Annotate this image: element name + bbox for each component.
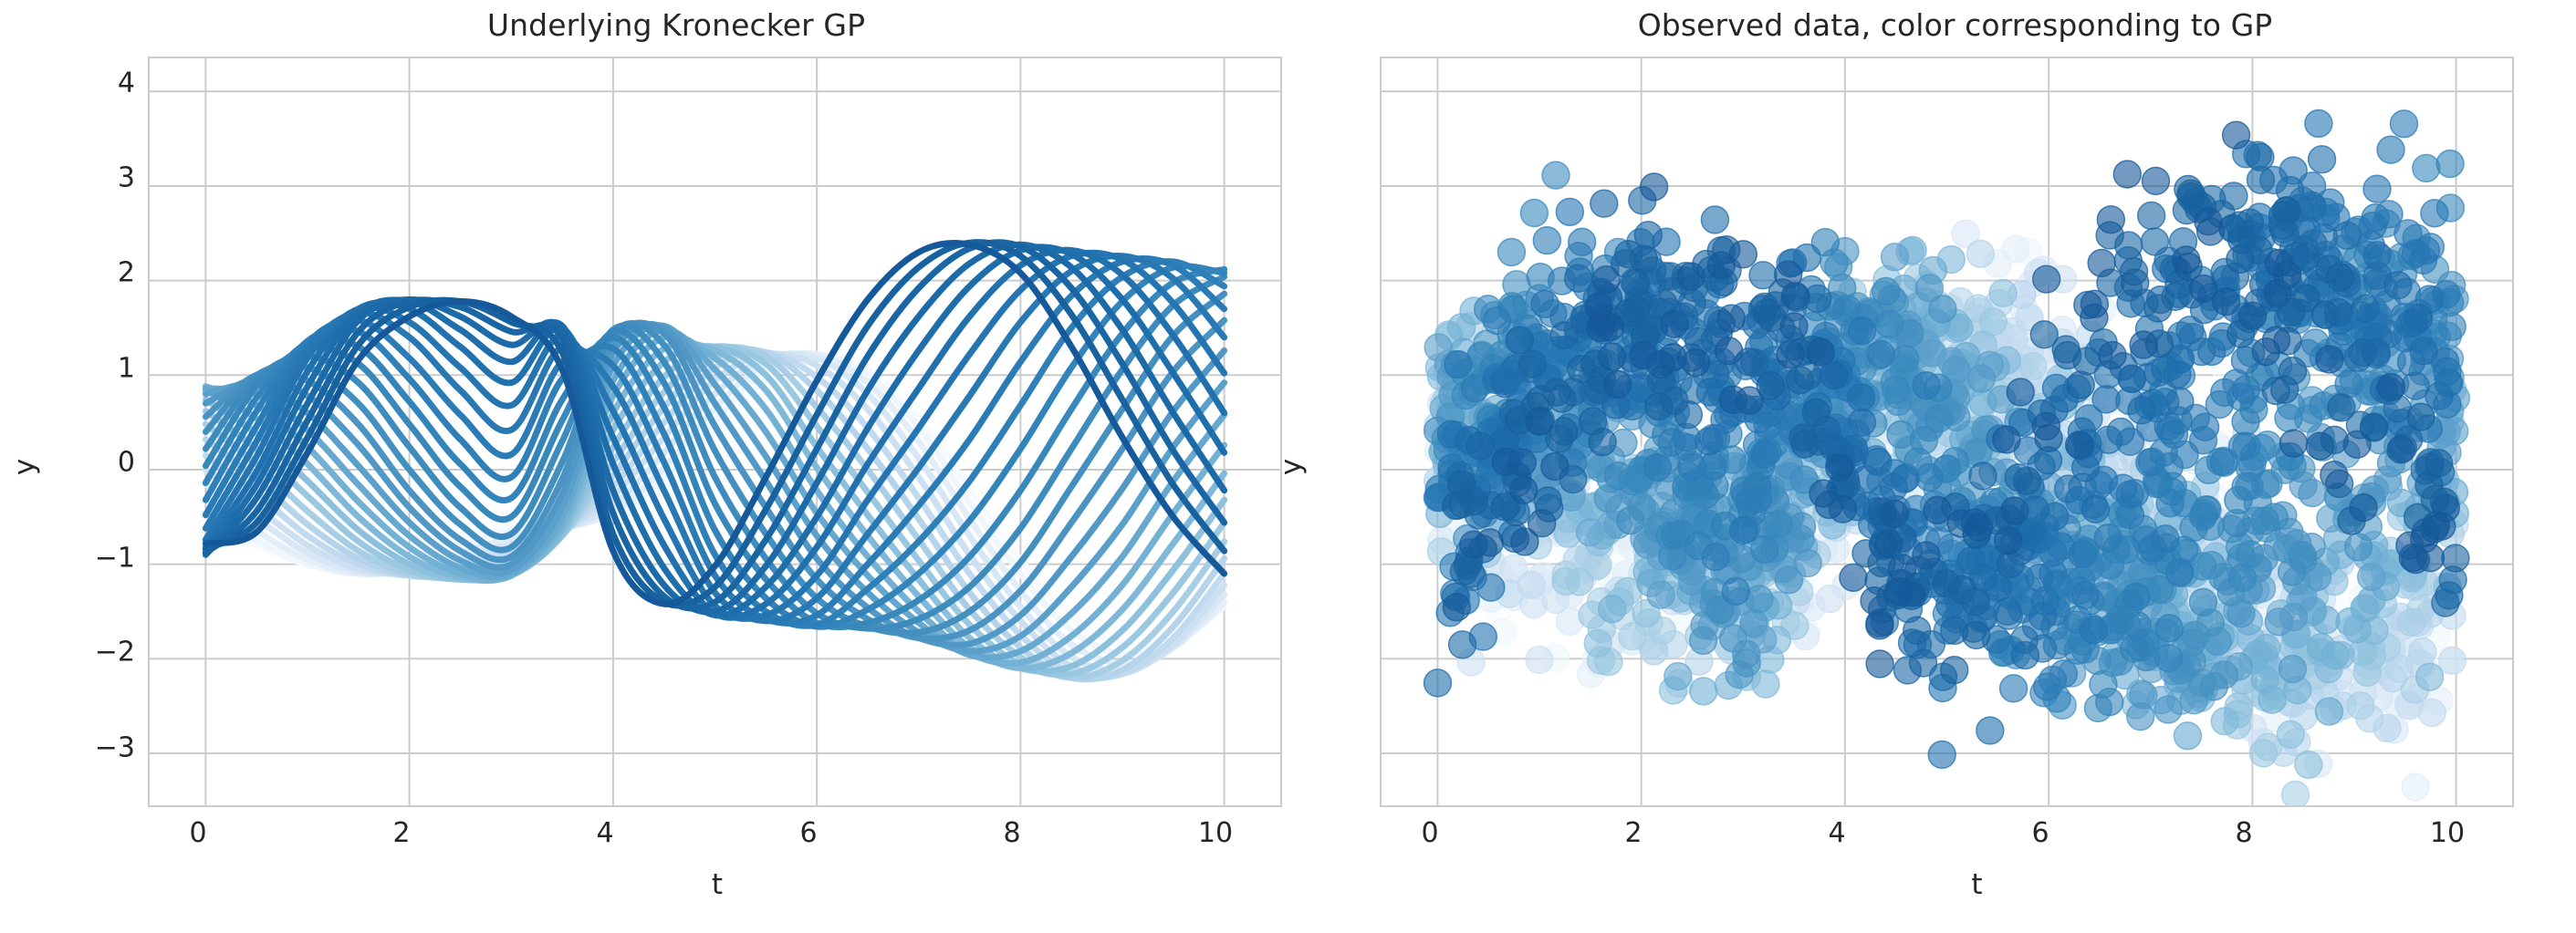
scatter-point: [2439, 647, 2466, 674]
scatter-point: [2049, 660, 2077, 688]
scatter-point: [2264, 280, 2291, 307]
scatter-point: [1622, 269, 1650, 296]
scatter-point: [1866, 650, 1893, 678]
scatter-point: [1717, 305, 1745, 332]
scatter-point: [2154, 412, 2182, 440]
scatter-point: [1517, 572, 1545, 599]
scatter-point: [2237, 541, 2264, 568]
scatter-point: [2352, 295, 2379, 322]
scatter-point: [1989, 280, 2017, 307]
gp-curve-group: [205, 243, 1224, 679]
scatter-point: [1690, 678, 1717, 705]
scatter-point: [2277, 720, 2304, 748]
scatter-point: [1993, 426, 2020, 453]
scatter-point: [1765, 511, 1792, 538]
scatter-point: [1695, 428, 1723, 455]
x-tick-label: 2: [392, 817, 410, 849]
scatter-point: [1928, 741, 1955, 769]
gp-curves-canvas: [150, 58, 1280, 805]
x-tick-label: 4: [596, 817, 613, 849]
scatter-point: [1966, 240, 1994, 267]
x-tick-label: 4: [1828, 817, 1845, 849]
scatter-point: [1448, 314, 1476, 341]
scatter-point: [2363, 242, 2391, 269]
y-tick-label: 1: [118, 352, 135, 384]
scatter-point: [2156, 490, 2184, 517]
scatter-point: [2152, 525, 2179, 553]
scatter-point: [1867, 341, 1894, 368]
scatter-point: [2275, 404, 2302, 431]
scatter-point: [1787, 367, 1814, 394]
x-tick-label: 8: [1003, 817, 1020, 849]
scatter-point: [2130, 331, 2157, 358]
scatter-point: [1443, 594, 1470, 621]
scatter-point: [2189, 588, 2216, 616]
scatter-point: [2134, 364, 2162, 391]
scatter-point: [1661, 310, 1688, 337]
scatter-point: [1630, 245, 1657, 273]
scatter-point: [2436, 150, 2464, 178]
scatter-point: [1849, 409, 1876, 436]
scatter-point: [2081, 290, 2108, 317]
scatter-point: [2189, 503, 2216, 530]
scatter-point: [1789, 424, 1817, 451]
scatter-point: [2416, 663, 2444, 690]
scatter-point: [2306, 432, 2333, 460]
scatter-point: [1424, 669, 1452, 697]
scatter-point: [2279, 558, 2306, 586]
scatter-canvas: [1382, 58, 2512, 805]
scatter-point: [2128, 397, 2155, 424]
scatter-point: [1569, 228, 1596, 255]
scatter-point: [2343, 430, 2371, 458]
scatter-point: [2279, 358, 2307, 385]
scatter-point: [2295, 751, 2322, 778]
scatter-point: [2088, 249, 2115, 276]
scatter-point: [1915, 463, 1943, 491]
scatter-point: [1550, 418, 1578, 445]
scatter-point: [2326, 264, 2353, 291]
scatter-point: [1913, 372, 1940, 399]
scatter-point: [2155, 645, 2183, 672]
scatter-point: [1592, 266, 1620, 294]
panel-underlying-gp: Underlying Kronecker GP 4 3 2 1 0 −1 −2 …: [0, 0, 1288, 933]
scatter-point: [2165, 559, 2193, 586]
scatter-point: [2127, 703, 2154, 731]
scatter-point: [1510, 476, 1538, 503]
scatter-point: [2260, 503, 2288, 531]
scatter-point: [2198, 338, 2226, 366]
scatter-point: [2001, 497, 2028, 524]
scatter-point: [1730, 517, 1757, 544]
scatter-point: [1599, 343, 1626, 370]
x-tick-label: 6: [2031, 817, 2049, 849]
scatter-point: [1699, 453, 1726, 481]
scatter-point: [2247, 166, 2275, 193]
scatter-point: [1604, 462, 1632, 490]
scatter-point: [1566, 568, 1593, 596]
scatter-point: [1511, 528, 1538, 555]
scatter-point: [2211, 708, 2238, 735]
scatter-point: [2097, 206, 2124, 233]
scatter-point: [2155, 615, 2183, 642]
scatter-point: [1807, 338, 1834, 366]
scatter-point: [2312, 606, 2340, 634]
x-tick-label: 2: [1624, 817, 1642, 849]
scatter-point: [2377, 136, 2404, 163]
scatter-point: [1533, 227, 1560, 254]
scatter-point: [1702, 544, 1729, 571]
scatter-point: [2273, 197, 2300, 224]
scatter-point: [1506, 327, 1533, 354]
y-axis-label-left: y: [8, 458, 41, 474]
scatter-point: [2066, 431, 2093, 459]
scatter-point: [2328, 394, 2355, 421]
scatter-point: [2333, 222, 2361, 249]
scatter-point: [2363, 175, 2391, 202]
scatter-point: [2421, 200, 2448, 227]
scatter-point: [2391, 110, 2418, 138]
y-tick-label: 0: [118, 447, 135, 479]
scatter-point: [2399, 544, 2426, 572]
scatter-point: [1584, 629, 1611, 657]
scatter-point: [1630, 342, 1657, 369]
y-tick-label: −1: [95, 542, 135, 574]
scatter-point: [2096, 689, 2123, 716]
scatter-point: [1913, 542, 1940, 569]
scatter-point: [1497, 239, 1525, 266]
scatter-point: [1476, 529, 1504, 556]
scatter-point: [2253, 635, 2280, 662]
scatter-point: [2347, 692, 2374, 720]
scatter-point: [2405, 305, 2433, 332]
scatter-point: [1924, 496, 1951, 524]
scatter-point: [1589, 429, 1616, 456]
scatter-point: [2000, 675, 2028, 702]
scatter-point: [2122, 584, 2150, 611]
scatter-point: [2144, 295, 2172, 322]
scatter-point: [2305, 110, 2332, 138]
scatter-point: [2425, 382, 2453, 409]
scatter-point: [1809, 480, 1837, 507]
scatter-point: [2418, 699, 2446, 726]
scatter-point: [2228, 226, 2256, 254]
scatter-point: [2225, 487, 2252, 514]
scatter-point: [1750, 441, 1778, 468]
scatter-point: [1716, 337, 1743, 365]
scatter-point: [2442, 544, 2469, 572]
scatter-point: [2410, 337, 2437, 365]
scatter-point: [1963, 621, 1990, 648]
panel-observed-data: Observed data, color corresponding to GP…: [1288, 0, 2576, 933]
scatter-point: [2258, 686, 2286, 713]
scatter-point: [1645, 393, 1673, 420]
scatter-point: [1550, 322, 1578, 349]
scatter-point: [1887, 421, 1914, 449]
plot-area-right: [1380, 57, 2514, 807]
scatter-point: [2320, 461, 2348, 489]
x-tick-label: 10: [1198, 817, 1233, 849]
scatter-point: [1730, 477, 1757, 504]
scatter-point: [1617, 507, 1644, 534]
scatter-point: [2223, 121, 2250, 149]
scatter-point: [1882, 376, 1910, 403]
scatter-point: [1641, 173, 1668, 201]
scatter-point: [1542, 161, 1570, 189]
y-tick-label: 3: [118, 162, 135, 194]
scatter-point: [1683, 349, 1710, 377]
scatter-point: [2282, 782, 2310, 805]
scatter-point: [2409, 638, 2436, 666]
scatter-point: [2358, 564, 2385, 591]
scatter-point: [1752, 670, 1779, 698]
scatter-point: [2413, 154, 2440, 181]
scatter-point: [2113, 161, 2141, 188]
scatter-point: [2011, 642, 2039, 669]
scatter-point: [2403, 240, 2430, 267]
scatter-point: [1585, 293, 1612, 320]
scatter-point: [2030, 321, 2058, 348]
scatter-point-group: [1424, 110, 2469, 805]
scatter-point: [2344, 534, 2372, 561]
scatter-point: [1647, 581, 1674, 608]
scatter-point: [2415, 472, 2443, 499]
scatter-point: [1775, 566, 1802, 594]
scatter-point: [1780, 313, 1808, 340]
x-tick-label: 0: [189, 817, 206, 849]
scatter-point: [1976, 717, 2004, 744]
x-axis-label-right: t: [1288, 868, 2576, 901]
scatter-point: [1816, 586, 1843, 613]
scatter-point: [2164, 361, 2191, 389]
scatter-point: [2019, 353, 2047, 380]
scatter-point: [1777, 341, 1804, 368]
scatter-point: [1519, 350, 1547, 378]
plot-area-left: [148, 57, 1282, 807]
scatter-point: [2398, 609, 2425, 637]
scatter-point: [1720, 625, 1747, 652]
x-tick-label: 6: [799, 817, 817, 849]
scatter-point: [2195, 208, 2222, 235]
scatter-point: [2265, 249, 2292, 276]
scatter-point: [2349, 339, 2376, 367]
scatter-point: [1864, 449, 1892, 476]
scatter-point: [2081, 617, 2108, 644]
scatter-point: [1892, 346, 1919, 373]
scatter-point: [1664, 663, 1692, 690]
scatter-point: [2013, 467, 2040, 494]
scatter-point: [2321, 642, 2349, 669]
scatter-point: [2252, 338, 2279, 366]
scatter-point: [2279, 656, 2306, 683]
scatter-point: [2071, 582, 2099, 609]
scatter-point: [2402, 773, 2429, 801]
scatter-point: [1733, 649, 1760, 677]
scatter-point: [2166, 388, 2194, 415]
scatter-point: [2438, 313, 2466, 340]
y-axis-label-right: y: [1275, 458, 1308, 474]
scatter-point: [2094, 524, 2122, 552]
scatter-point: [2106, 606, 2133, 633]
scatter-point: [2154, 696, 2182, 723]
scatter-point: [1449, 631, 1476, 658]
scatter-point: [2031, 587, 2059, 615]
x-tick-label: 10: [2430, 817, 2465, 849]
scatter-point: [2280, 604, 2308, 631]
scatter-point: [2407, 403, 2435, 430]
scatter-point: [1781, 283, 1809, 310]
scatter-point: [2007, 378, 2034, 406]
scatter-point: [1526, 647, 1553, 674]
scatter-point: [2309, 146, 2336, 173]
scatter-point: [2280, 430, 2308, 457]
scatter-point: [2435, 582, 2463, 609]
scatter-point: [2033, 265, 2060, 293]
y-tick-label: −3: [95, 731, 135, 763]
y-tick-label: −2: [95, 637, 135, 669]
scatter-point: [1875, 530, 1903, 557]
scatter-point: [1556, 198, 1583, 225]
scatter-point: [1541, 453, 1569, 481]
scatter-point: [2190, 275, 2217, 303]
scatter-point: [2067, 371, 2094, 399]
x-axis-label-left: t: [0, 868, 1288, 901]
scatter-point: [1690, 627, 1717, 654]
scatter-point: [2387, 436, 2414, 463]
scatter-point: [2136, 449, 2164, 476]
scatter-point: [1995, 527, 2022, 555]
scatter-point: [1941, 657, 1968, 684]
scatter-point: [1826, 454, 1853, 482]
scatter-point: [1599, 596, 1626, 623]
scatter-point: [1967, 365, 1995, 392]
scatter-point: [1969, 462, 1997, 490]
y-tick-column-left: 4 3 2 1 0 −1 −2 −3: [0, 57, 135, 807]
scatter-point: [1604, 371, 1632, 399]
scatter-point: [1948, 576, 1976, 604]
scatter-point: [1590, 190, 1618, 217]
scatter-point: [1492, 448, 1519, 475]
scatter-point: [2116, 481, 2143, 508]
scatter-point: [2350, 494, 2377, 522]
scatter-point: [1889, 555, 1916, 582]
x-tick-label: 8: [2235, 817, 2252, 849]
scatter-point: [1861, 587, 1888, 615]
scatter-point: [2174, 722, 2201, 750]
scatter-point: [2081, 495, 2109, 523]
scatter-point: [1929, 295, 1956, 323]
scatter-point: [2359, 213, 2386, 240]
scatter-point: [2121, 635, 2148, 662]
scatter-point: [1903, 617, 1931, 644]
scatter-point: [2232, 408, 2259, 435]
scatter-point: [2182, 621, 2209, 648]
scatter-point: [1882, 244, 1909, 271]
scatter-point: [2032, 413, 2060, 441]
scatter-point: [2315, 698, 2342, 725]
scatter-point: [1466, 432, 1494, 460]
scatter-point: [1848, 384, 1875, 411]
scatter-point: [1898, 582, 1925, 609]
scatter-point: [1840, 564, 1867, 591]
scatter-point: [1881, 501, 1908, 528]
scatter-point: [1893, 657, 1921, 684]
scatter-point: [2229, 432, 2257, 460]
panel-title-left: Underlying Kronecker GP: [0, 7, 1288, 43]
scatter-point: [2138, 202, 2165, 230]
scatter-point: [2232, 376, 2259, 403]
scatter-point: [2316, 346, 2343, 373]
scatter-point: [2192, 413, 2219, 441]
scatter-point: [2239, 302, 2267, 329]
figure: Underlying Kronecker GP 4 3 2 1 0 −1 −2 …: [0, 0, 2576, 933]
scatter-point: [2142, 228, 2169, 255]
scatter-point: [2143, 168, 2170, 195]
scatter-point: [1483, 307, 1510, 335]
scatter-point: [1966, 513, 1993, 541]
scatter-point: [1722, 577, 1749, 605]
scatter-point: [2200, 673, 2227, 700]
scatter-point: [2249, 740, 2277, 767]
scatter-point: [1444, 351, 1472, 378]
scatter-point: [1880, 474, 1907, 502]
scatter-point: [2099, 342, 2126, 369]
scatter-point: [2121, 258, 2148, 285]
x-tick-label: 0: [1421, 817, 1438, 849]
scatter-point: [2377, 374, 2404, 401]
scatter-point: [1802, 399, 1830, 426]
scatter-point: [2299, 480, 2326, 507]
scatter-point: [1526, 408, 1553, 435]
scatter-point: [1520, 200, 1548, 227]
scatter-point: [1460, 488, 1487, 515]
y-tick-label: 2: [118, 257, 135, 289]
scatter-point: [1643, 454, 1671, 482]
scatter-point: [1719, 386, 1747, 413]
scatter-point: [1677, 263, 1705, 290]
scatter-point: [2384, 272, 2412, 299]
scatter-point: [2351, 595, 2378, 622]
y-tick-label: 4: [118, 67, 135, 98]
scatter-point: [1622, 296, 1650, 324]
scatter-point: [1729, 241, 1757, 268]
scatter-point: [1849, 317, 1876, 345]
panel-title-right: Observed data, color corresponding to GP: [1288, 7, 2576, 43]
scatter-point: [1701, 206, 1728, 233]
